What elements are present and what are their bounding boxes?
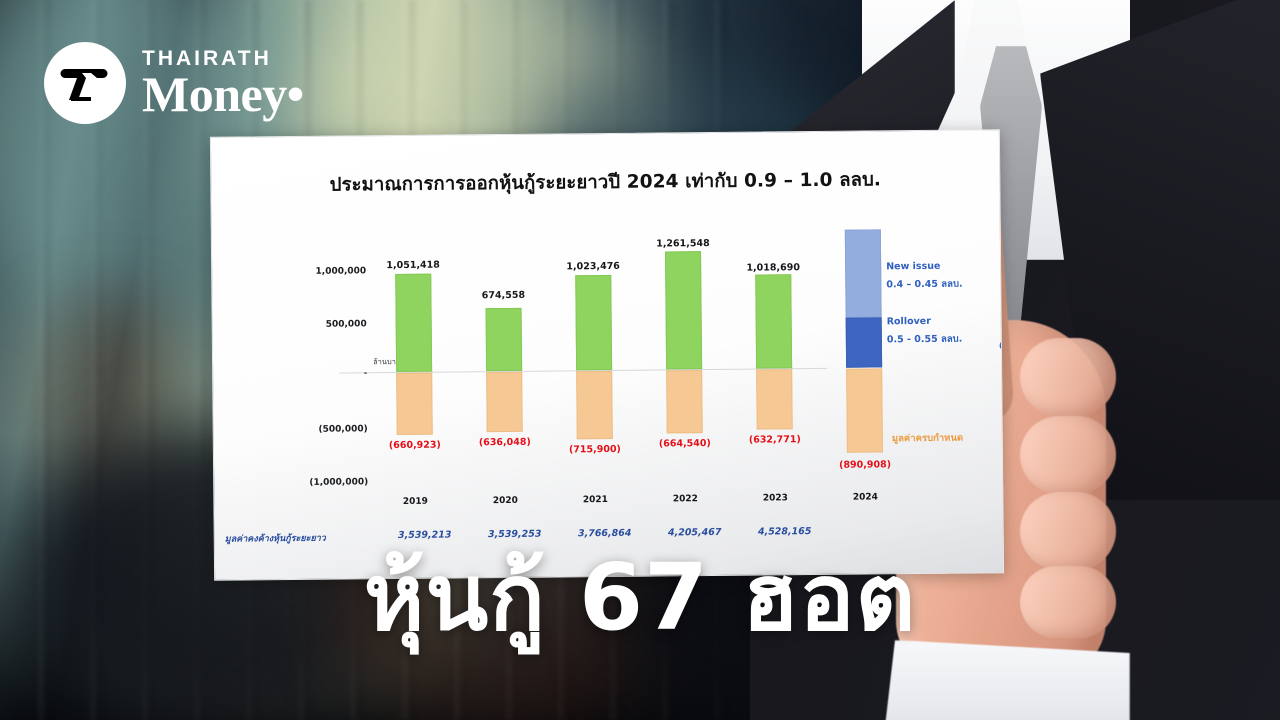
legend-new-issue-value: 0.4 – 0.45 ลลบ. (886, 276, 1004, 293)
y-tick-label: - (287, 368, 367, 378)
bar-value-negative: (890,908) (820, 459, 910, 471)
legend-new-issue-label: New issue (886, 260, 1004, 273)
bar-value-negative: (715,900) (550, 444, 640, 456)
logo-word: Money• (142, 70, 304, 118)
bar-value-positive: 1,261,548 (640, 238, 726, 250)
logo-wordmark: THAIRATH Money• (142, 48, 304, 118)
hand-knuckle (1020, 416, 1116, 494)
bar-positive[interactable] (665, 251, 702, 369)
bar-value-negative: (660,923) (370, 439, 460, 451)
bar-positive[interactable] (575, 275, 612, 370)
bar-positive[interactable] (395, 274, 432, 372)
bar-value-positive: 674,558 (460, 290, 546, 302)
y-tick-label: 500,000 (287, 319, 367, 330)
footer-value-2019: 3,539,213 (377, 529, 473, 541)
bar-value-positive: 1,018,690 (730, 262, 816, 274)
bar-positive[interactable] (755, 274, 792, 368)
bar-value-negative: (636,048) (460, 437, 550, 449)
bar-rollover[interactable] (846, 317, 882, 367)
legend-rollover-value: 0.5 - 0.55 ลลบ. (887, 331, 1004, 348)
bar-group-2022[interactable]: 1,261,548 (664,540) 2022 (648, 241, 721, 532)
footer-value-2024 (827, 525, 923, 526)
bar-group-2023[interactable]: 1,018,690 (632,771) 2023 (738, 240, 811, 531)
slide-card: ประมาณการการออกหุ้นกู้ระยะยาวปี 2024 เท่… (210, 129, 1004, 581)
bar-value-positive: 1,023,476 (550, 261, 636, 273)
footer-value-2023: 4,528,165 (737, 526, 833, 538)
y-tick-label: (1,000,000) (288, 477, 368, 488)
bar-group-2019[interactable]: 1,051,418 (660,923) 2019 (378, 244, 451, 535)
legend-maturity-label: มูลค่าครบกำหนด (892, 431, 963, 447)
shirt-cuff (880, 640, 1130, 720)
bar-value-negative: (632,771) (730, 434, 820, 446)
screenshot-stage: THAIRATH Money• ประมาณการการออกหุ้นกู้ระ… (0, 0, 1280, 720)
legend-rollover-label: Rollover (887, 315, 1004, 328)
bar-negative[interactable] (396, 373, 433, 435)
y-tick-label: (500,000) (288, 424, 368, 435)
bar-value-negative: (664,540) (640, 438, 730, 450)
chart-bars: 1,051,418 (660,923) 2019 674,558 (636,04… (378, 239, 941, 534)
bar-negative[interactable] (756, 369, 793, 429)
bar-new-issue[interactable] (845, 229, 882, 317)
bar-negative[interactable] (576, 371, 613, 439)
bar-negative[interactable] (666, 370, 703, 433)
y-tick-label: 1,000,000 (286, 266, 366, 277)
footer-value-2022: 4,205,467 (647, 527, 743, 539)
thairath-money-logo[interactable]: THAIRATH Money• (44, 42, 304, 124)
x-tick-label-2022: 2022 (650, 494, 720, 505)
bar-negative[interactable] (486, 372, 523, 432)
chart-title: ประมาณการการออกหุ้นกู้ระยะยาวปี 2024 เท่… (211, 164, 999, 201)
bar-negative[interactable] (846, 368, 883, 452)
bar-value-positive: 1,051,418 (370, 259, 456, 271)
headline-text: หุ้นกู้ 67 ฮอต (0, 552, 1280, 644)
footer-row-label: มูลค่าคงค้างหุ้นกู้ระยะยาว (225, 531, 326, 546)
bar-group-2021[interactable]: 1,023,476 (715,900) 2021 (558, 242, 631, 533)
hand-knuckle (1020, 338, 1116, 416)
bar-positive[interactable] (486, 308, 523, 371)
x-tick-label-2023: 2023 (740, 493, 810, 504)
x-tick-label-2019: 2019 (380, 497, 450, 508)
x-tick-label-2021: 2021 (560, 495, 630, 506)
chart-legend: New issue 0.4 – 0.45 ลลบ. Rollover 0.5 -… (886, 260, 1004, 348)
chart-plot-area: ล้านบาท 1,000,000 500,000 - (500,000) (1… (286, 239, 939, 535)
logo-dot: • (287, 66, 304, 122)
x-tick-label-2024: 2024 (830, 492, 900, 503)
x-tick-label-2020: 2020 (470, 496, 540, 507)
footer-value-2021: 3,766,864 (557, 528, 653, 540)
thairath-t-logo-icon (44, 42, 126, 124)
bar-group-2020[interactable]: 674,558 (636,048) 2020 (468, 243, 541, 534)
footer-value-2020: 3,539,253 (467, 528, 563, 540)
